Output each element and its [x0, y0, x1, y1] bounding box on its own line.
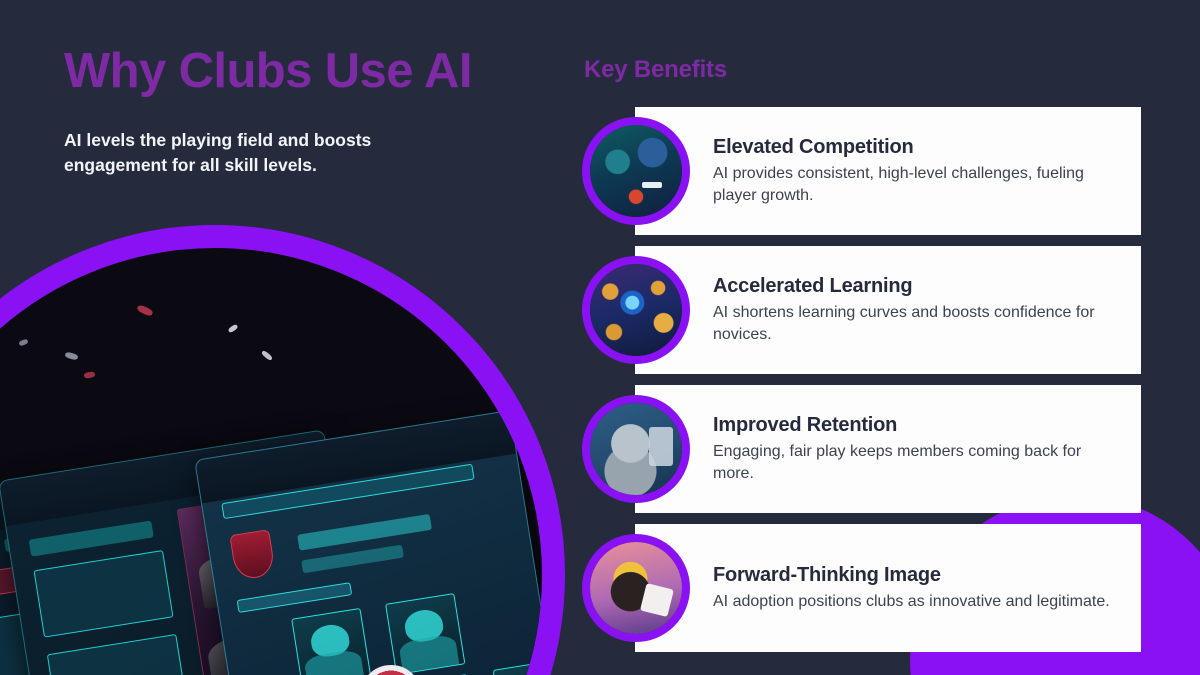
gorilla-avatar-icon [582, 395, 690, 503]
collage-panel: VIX ACTIV MOR [0, 210, 600, 675]
benefit-title: Accelerated Learning [713, 274, 1125, 298]
ape-cards-avatar-icon [582, 534, 690, 642]
purple-arc-ring: VIX ACTIV MOR [0, 225, 565, 675]
confetti-speck [228, 324, 239, 334]
section-title-key-benefits: Key Benefits [584, 56, 727, 84]
page-title: Why Clubs Use AI [64, 44, 472, 99]
tablet-coins-avatar-icon [582, 256, 690, 364]
benefit-text: Accelerated Learning AI shortens learnin… [713, 274, 1141, 346]
page-subtitle: AI levels the playing field and boosts e… [64, 128, 439, 179]
benefit-text: Elevated Competition AI provides consist… [713, 135, 1141, 207]
benefit-card-improved-retention[interactable]: Improved Retention Engaging, fair play k… [635, 385, 1141, 513]
benefit-card-forward-thinking-image[interactable]: Forward-Thinking Image AI adoption posit… [635, 524, 1141, 652]
benefit-title: Improved Retention [713, 413, 1125, 437]
benefit-description: AI provides consistent, high-level chall… [713, 163, 1125, 207]
confetti-speck [261, 349, 273, 361]
confetti-speck [136, 304, 153, 317]
confetti-speck [18, 338, 28, 346]
confetti-speck [84, 371, 96, 379]
benefit-text: Improved Retention Engaging, fair play k… [713, 413, 1141, 485]
benefit-title: Elevated Competition [713, 135, 1125, 159]
benefit-description: AI adoption positions clubs as innovativ… [713, 591, 1110, 613]
benefits-list: Elevated Competition AI provides consist… [635, 107, 1141, 652]
benefit-title: Forward-Thinking Image [713, 563, 1110, 587]
benefit-description: Engaging, fair play keeps members coming… [713, 441, 1125, 485]
benefit-text: Forward-Thinking Image AI adoption posit… [713, 563, 1126, 613]
gaming-scene-avatar-icon [582, 117, 690, 225]
collage-artwork: VIX ACTIV MOR [0, 248, 542, 675]
benefit-card-accelerated-learning[interactable]: Accelerated Learning AI shortens learnin… [635, 246, 1141, 374]
benefit-description: AI shortens learning curves and boosts c… [713, 302, 1125, 346]
confetti-speck [64, 351, 78, 360]
benefit-card-elevated-competition[interactable]: Elevated Competition AI provides consist… [635, 107, 1141, 235]
